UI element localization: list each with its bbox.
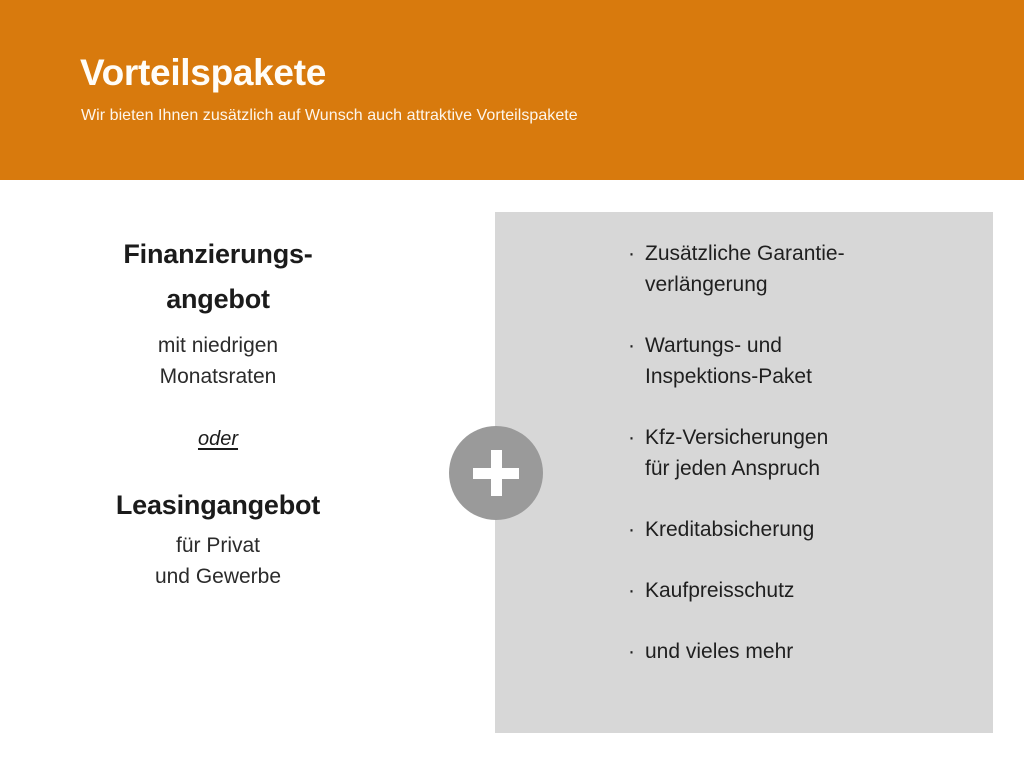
list-item-line-1: Kaufpreisschutz (645, 575, 958, 606)
bullet-icon: · (628, 330, 635, 361)
offer-leasing-detail-line-2: und Gewerbe (58, 561, 378, 592)
offer-leasing-heading: Leasingangebot (58, 488, 378, 522)
content-area: Finanzierungs- angebot mit niedrigen Mon… (0, 180, 1024, 768)
benefits-list: · Zusätzliche Garantie- verlängerung · W… (628, 238, 958, 667)
offer-financing-heading-line-1: Finanzierungs- (58, 232, 378, 277)
list-item: · und vieles mehr (628, 636, 958, 667)
offer-divider-label: oder (198, 428, 238, 450)
list-item: · Kreditabsicherung (628, 514, 958, 545)
list-item: · Kaufpreisschutz (628, 575, 958, 606)
offer-financing-detail-line-2: Monatsraten (58, 361, 378, 392)
plus-icon (449, 426, 543, 520)
bullet-icon: · (628, 514, 635, 545)
page-subtitle: Wir bieten Ihnen zusätzlich auf Wunsch a… (81, 105, 578, 127)
list-item-line-1: Wartungs- und (645, 330, 958, 361)
offer-financing: Finanzierungs- angebot mit niedrigen Mon… (58, 232, 378, 392)
list-item-line-2: verlängerung (645, 269, 958, 300)
page-header: Vorteilspakete Wir bieten Ihnen zusätzli… (0, 0, 1024, 180)
offer-leasing: Leasingangebot für Privat und Gewerbe (58, 488, 378, 592)
list-item-line-1: und vieles mehr (645, 636, 958, 667)
list-item-line-2: für jeden Anspruch (645, 453, 958, 484)
plus-icon-vertical-bar (491, 450, 502, 496)
list-item-line-1: Kreditabsicherung (645, 514, 958, 545)
bullet-icon: · (628, 422, 635, 453)
list-item: · Wartungs- und Inspektions-Paket (628, 330, 958, 392)
list-item-line-2: Inspektions-Paket (645, 361, 958, 392)
bullet-icon: · (628, 575, 635, 606)
offer-column: Finanzierungs- angebot mit niedrigen Mon… (58, 232, 378, 592)
offer-financing-detail: mit niedrigen Monatsraten (58, 330, 378, 392)
offer-leasing-detail-line-1: für Privat (58, 530, 378, 561)
page-title: Vorteilspakete (80, 51, 326, 95)
list-item-line-1: Zusätzliche Garantie- (645, 238, 958, 269)
offer-divider: oder (58, 426, 378, 452)
offer-financing-heading: Finanzierungs- angebot (58, 232, 378, 322)
bullet-icon: · (628, 238, 635, 269)
list-item-line-1: Kfz-Versicherungen (645, 422, 958, 453)
offer-financing-detail-line-1: mit niedrigen (58, 330, 378, 361)
benefits-panel: · Zusätzliche Garantie- verlängerung · W… (495, 212, 993, 733)
bullet-icon: · (628, 636, 635, 667)
offer-financing-heading-line-2: angebot (58, 277, 378, 322)
list-item: · Kfz-Versicherungen für jeden Anspruch (628, 422, 958, 484)
offer-leasing-detail: für Privat und Gewerbe (58, 530, 378, 592)
list-item: · Zusätzliche Garantie- verlängerung (628, 238, 958, 300)
